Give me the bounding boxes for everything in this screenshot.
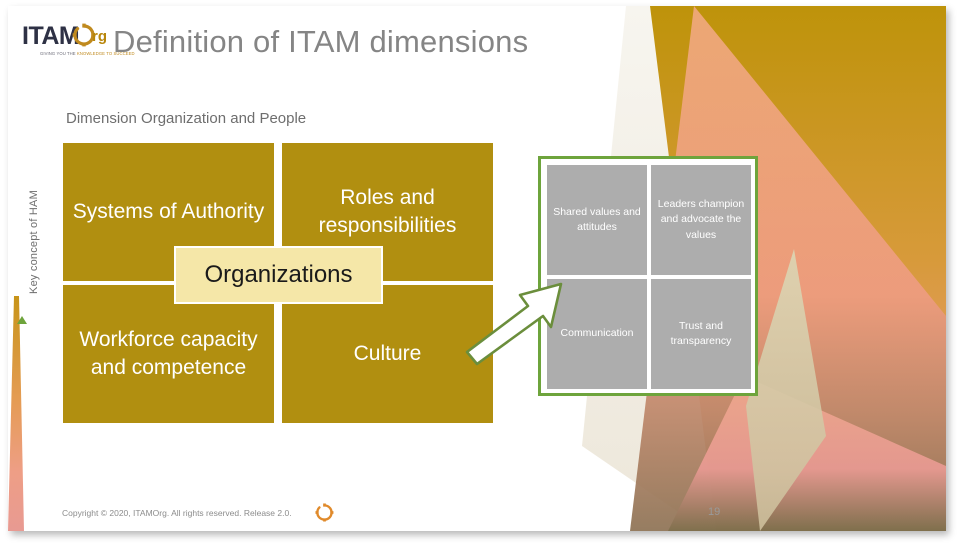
left-triangle-marker	[17, 316, 27, 324]
dimension-subtitle: Dimension Organization and People	[66, 110, 306, 127]
copyright-text: Copyright © 2020, ITAMOrg. All rights re…	[62, 508, 292, 518]
left-accent-bar	[8, 296, 24, 531]
left-accent-svg	[8, 296, 24, 531]
left-accent-shape	[8, 296, 24, 531]
footer-gear-icon-svg	[315, 503, 334, 522]
arrow-icon	[463, 278, 578, 368]
quad-cell-leaders-champion-and-advocate-the-values: Leaders champion and advocate the values	[651, 165, 751, 275]
matrix-cell-culture: Culture	[282, 285, 493, 423]
footer-gear-icon	[315, 503, 334, 522]
logo-wordmark: ITAM	[22, 24, 79, 49]
connector-arrow	[463, 278, 578, 368]
deco-shape-pale	[746, 249, 826, 531]
slide-root: Key concept of HAM ITAM rg GIVING YOU TH…	[0, 0, 958, 545]
page-number: 19	[708, 506, 720, 518]
logo-suffix: rg	[92, 29, 107, 44]
quad-cell-trust-and-transparency: Trust and transparency	[651, 279, 751, 389]
organization-matrix: Systems of Authority Roles and responsib…	[63, 143, 493, 423]
slide-canvas: Key concept of HAM ITAM rg GIVING YOU TH…	[8, 6, 946, 531]
matrix-cell-workforce-capacity-and-competence: Workforce capacity and competence	[63, 285, 274, 423]
itamorg-logo: ITAM rg GIVING YOU THE KNOWLEDGE TO SUCC…	[18, 20, 118, 64]
logo-tagline-line1: GIVING YOU THE	[40, 51, 76, 56]
side-label: Key concept of HAM	[28, 172, 40, 312]
matrix-center-label: Organizations	[174, 246, 383, 304]
logo-tagline-line2: KNOWLEDGE	[77, 51, 105, 56]
quad-cell-shared-values-and-attitudes: Shared values and attitudes	[547, 165, 647, 275]
page-title: Definition of ITAM dimensions	[113, 24, 528, 60]
